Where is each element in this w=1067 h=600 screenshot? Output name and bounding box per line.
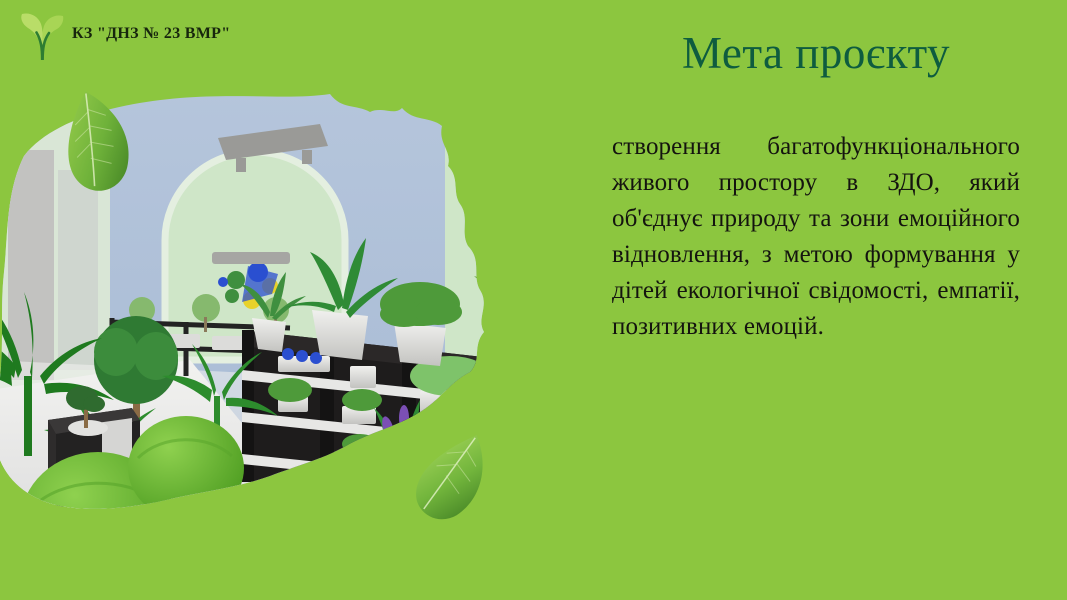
body-paragraph: створення багатофункціонального живого п…: [612, 129, 1020, 345]
slide-root: КЗ "ДНЗ № 23 ВМР": [0, 0, 1067, 600]
sprout-icon: [18, 8, 66, 60]
page-title: Мета проєкту: [612, 30, 1020, 77]
content-column: Мета проєкту створення багатофункціональ…: [612, 30, 1020, 345]
tall-plant-right: [512, 326, 590, 402]
brand-label: КЗ "ДНЗ № 23 ВМР": [72, 25, 230, 43]
brand-logo: КЗ "ДНЗ № 23 ВМР": [18, 8, 230, 60]
body-text: створення багатофункціонального живого п…: [612, 129, 1020, 345]
